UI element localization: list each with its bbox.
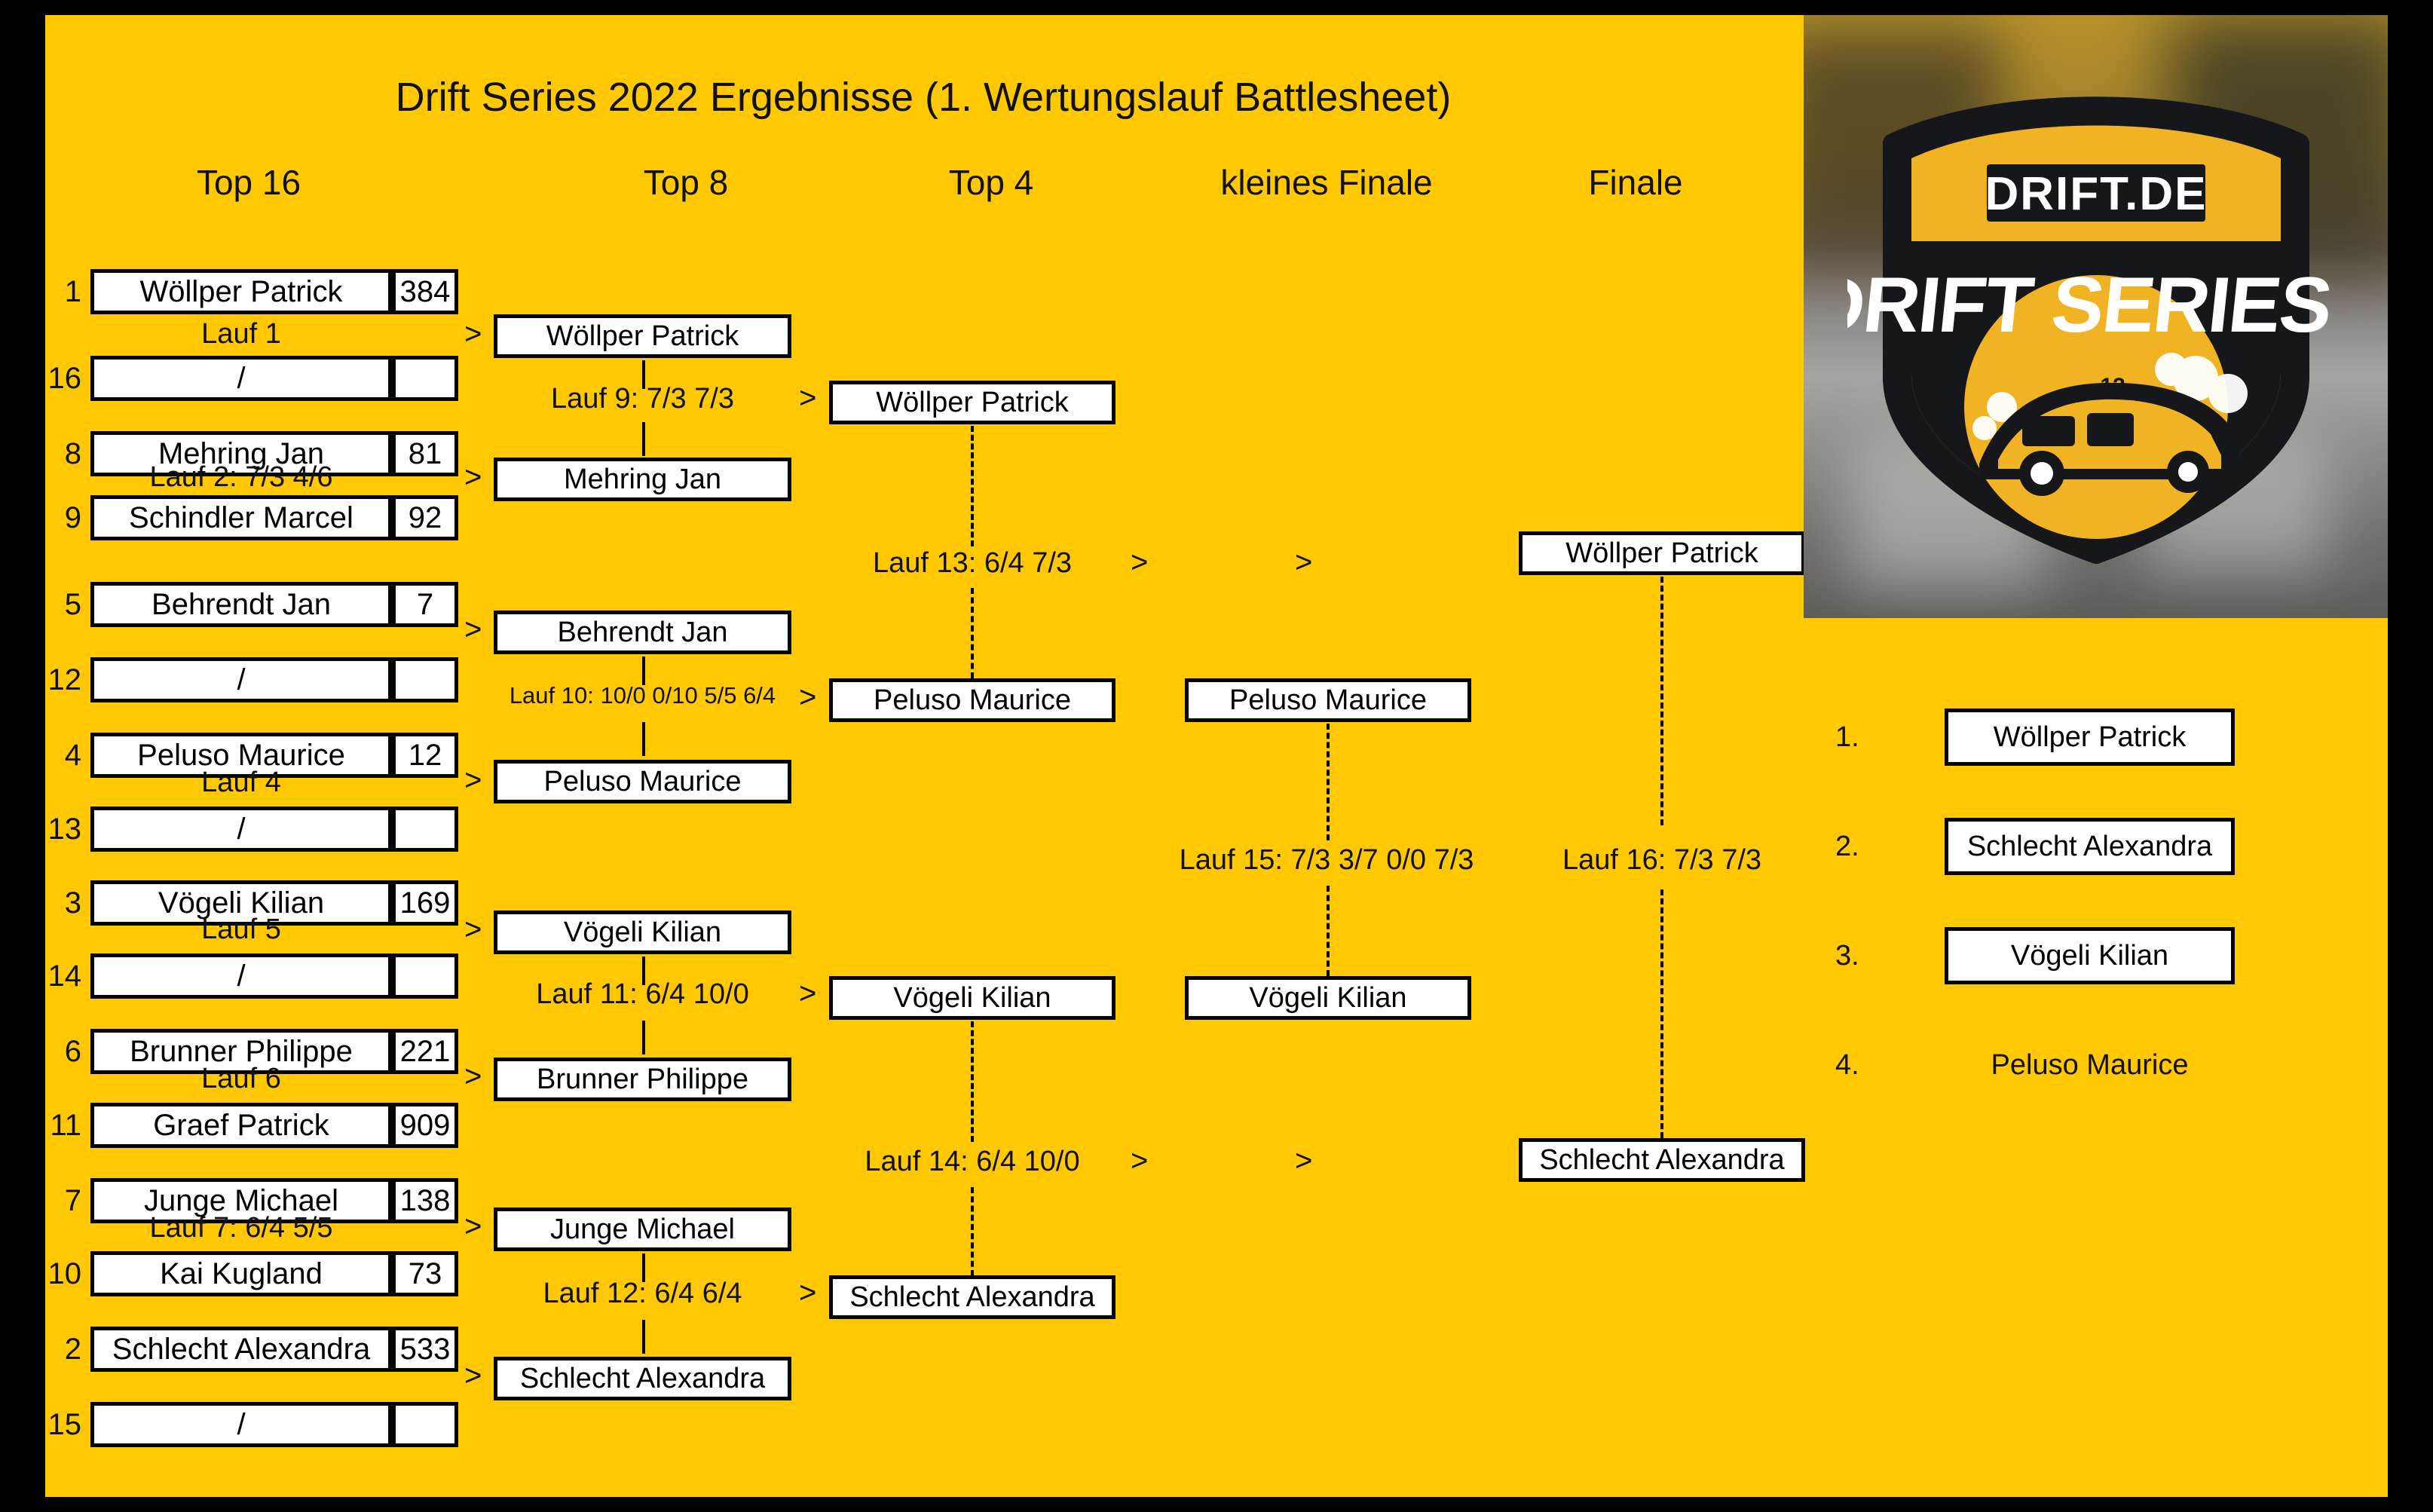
advance-arrow-icon: > xyxy=(464,765,482,795)
top16-car-number[interactable]: 138 xyxy=(392,1178,458,1223)
seed-number: 6 xyxy=(45,1029,81,1074)
bracket-connector xyxy=(1660,889,1663,1138)
match-label: Lauf 15: 7/3 3/7 0/0 7/3 xyxy=(1146,844,1507,877)
column-header-top8: Top 8 xyxy=(513,162,859,203)
ranking-name[interactable]: Vögeli Kilian xyxy=(1945,927,2235,984)
top16-car-number[interactable]: 384 xyxy=(392,269,458,314)
final-entrant[interactable]: Wöllper Patrick xyxy=(1519,531,1805,575)
final-entrant[interactable]: Schlecht Alexandra xyxy=(1519,1138,1805,1182)
seed-number: 3 xyxy=(45,880,81,926)
match-label: Lauf 12: 6/4 6/4 xyxy=(494,1278,791,1310)
top16-name[interactable]: Graef Patrick xyxy=(90,1103,392,1148)
battlesheet: Drift Series 2022 Ergebnisse (1. Wertung… xyxy=(45,15,2388,1497)
small-final-entrant[interactable]: Peluso Maurice xyxy=(1185,678,1471,722)
ranking-place: 3. xyxy=(1835,927,1888,984)
seed-number: 7 xyxy=(45,1178,81,1223)
seed-number: 5 xyxy=(45,582,81,627)
seed-number: 9 xyxy=(45,495,81,540)
bracket-connector xyxy=(1660,577,1663,825)
top16-name[interactable]: Kai Kugland xyxy=(90,1251,392,1296)
match-label: Lauf 11: 6/4 10/0 xyxy=(494,978,791,1011)
advance-arrow-icon: > xyxy=(464,1211,482,1241)
seed-number: 13 xyxy=(45,807,81,852)
match-label: Lauf 13: 6/4 7/3 xyxy=(829,547,1116,580)
bracket-connector xyxy=(642,722,645,756)
drift-series-badge-icon: DRIFT.DE DRIFT SERIES xyxy=(1847,53,2345,580)
top16-name[interactable]: / xyxy=(90,807,392,852)
bracket-connector xyxy=(642,422,645,456)
top16-car-number[interactable]: 533 xyxy=(392,1327,458,1372)
seed-number: 2 xyxy=(45,1327,81,1372)
top16-name[interactable]: / xyxy=(90,356,392,401)
top8-name[interactable]: Brunner Philippe xyxy=(494,1057,791,1101)
ranking-place: 1. xyxy=(1835,709,1888,766)
match-label: Lauf 16: 7/3 7/3 xyxy=(1519,844,1805,877)
top16-car-number[interactable]: 73 xyxy=(392,1251,458,1296)
top16-car-number[interactable]: 92 xyxy=(392,495,458,540)
match-label: Lauf 6 xyxy=(90,1063,392,1095)
bracket-connector xyxy=(642,657,645,685)
top8-name[interactable]: Vögeli Kilian xyxy=(494,911,791,954)
top4-name[interactable]: Vögeli Kilian xyxy=(829,976,1116,1020)
top16-name[interactable]: / xyxy=(90,657,392,702)
advance-arrow-icon: > xyxy=(464,614,482,644)
match-label: Lauf 14: 6/4 10/0 xyxy=(829,1146,1116,1178)
bracket-connector xyxy=(1327,886,1330,976)
top8-name[interactable]: Junge Michael xyxy=(494,1207,791,1251)
top16-car-number[interactable] xyxy=(392,1402,458,1447)
ranking-name: Peluso Maurice xyxy=(1945,1036,2235,1094)
advance-arrow-icon: > xyxy=(1131,1146,1148,1176)
ranking-place: 4. xyxy=(1835,1036,1888,1094)
bracket-connector xyxy=(971,1187,974,1276)
drift-series-logo: DRIFT.DE DRIFT SERIES xyxy=(1804,15,2388,618)
seed-number: 10 xyxy=(45,1251,81,1296)
match-label: Lauf 10: 10/0 0/10 5/5 6/4 xyxy=(479,682,806,709)
advance-arrow-icon: > xyxy=(799,978,816,1009)
seed-number: 14 xyxy=(45,953,81,999)
bracket-connector xyxy=(971,588,974,678)
match-label: Lauf 4 xyxy=(90,767,392,799)
advance-arrow-icon: > xyxy=(1131,547,1148,577)
top16-name[interactable]: Schindler Marcel xyxy=(90,495,392,540)
top16-name[interactable]: Behrendt Jan xyxy=(90,582,392,627)
logo-car-number: 12 xyxy=(2100,374,2125,399)
column-header-kleines-finale: kleines Finale xyxy=(1138,162,1515,203)
match-label: Lauf 1 xyxy=(90,318,392,350)
column-header-top16: Top 16 xyxy=(75,162,422,203)
advance-arrow-icon: > xyxy=(799,682,816,712)
column-header-top4: Top 4 xyxy=(825,162,1157,203)
match-label: Lauf 2: 7/3 4/6 xyxy=(90,461,392,494)
advance-arrow-icon: > xyxy=(464,914,482,944)
seed-number: 11 xyxy=(45,1103,81,1148)
advance-arrow-icon: > xyxy=(799,383,816,413)
top16-name[interactable]: / xyxy=(90,1402,392,1447)
top4-name[interactable]: Schlecht Alexandra xyxy=(829,1275,1116,1319)
ranking-name[interactable]: Wöllper Patrick xyxy=(1945,709,2235,766)
seed-number: 8 xyxy=(45,431,81,476)
top16-car-number[interactable] xyxy=(392,657,458,702)
top16-name[interactable]: / xyxy=(90,953,392,999)
top8-name[interactable]: Wöllper Patrick xyxy=(494,314,791,358)
bracket-connector xyxy=(1327,724,1330,840)
match-label: Lauf 7: 6/4 5/5 xyxy=(90,1212,392,1244)
top8-name[interactable]: Mehring Jan xyxy=(494,458,791,501)
top8-name[interactable]: Behrendt Jan xyxy=(494,611,791,654)
advance-arrow-icon: > xyxy=(464,319,482,349)
top16-car-number[interactable]: 7 xyxy=(392,582,458,627)
advance-arrow-icon: > xyxy=(1295,547,1312,577)
bracket-connector xyxy=(642,1320,645,1354)
logo-top-text: DRIFT.DE xyxy=(1985,168,2207,220)
advance-arrow-icon: > xyxy=(464,462,482,492)
bracket-connector xyxy=(971,426,974,546)
page-title: Drift Series 2022 Ergebnisse (1. Wertung… xyxy=(45,74,1801,121)
seed-number: 16 xyxy=(45,356,81,401)
top8-name[interactable]: Peluso Maurice xyxy=(494,760,791,803)
bracket-connector xyxy=(642,1021,645,1054)
top16-car-number[interactable]: 81 xyxy=(392,431,458,476)
match-label: Lauf 5 xyxy=(90,914,392,946)
top16-car-number[interactable]: 909 xyxy=(392,1103,458,1148)
top16-car-number[interactable]: 169 xyxy=(392,880,458,926)
column-header-finale: Finale xyxy=(1500,162,1771,203)
top16-car-number[interactable]: 12 xyxy=(392,733,458,778)
top16-car-number[interactable] xyxy=(392,953,458,999)
small-final-entrant[interactable]: Vögeli Kilian xyxy=(1185,976,1471,1020)
top16-car-number[interactable]: 221 xyxy=(392,1029,458,1074)
seed-number: 1 xyxy=(45,269,81,314)
seed-number: 4 xyxy=(45,733,81,778)
match-label: Lauf 9: 7/3 7/3 xyxy=(494,383,791,415)
ranking-place: 2. xyxy=(1835,818,1888,875)
advance-arrow-icon: > xyxy=(1295,1146,1312,1176)
advance-arrow-icon: > xyxy=(464,1061,482,1091)
seed-number: 15 xyxy=(45,1402,81,1447)
advance-arrow-icon: > xyxy=(464,1360,482,1391)
top16-car-number[interactable] xyxy=(392,807,458,852)
logo-main-text: DRIFT SERIES xyxy=(1847,262,2335,349)
top16-name[interactable]: Schlecht Alexandra xyxy=(90,1327,392,1372)
top16-car-number[interactable] xyxy=(392,356,458,401)
top16-name[interactable]: Wöllper Patrick xyxy=(90,269,392,314)
top4-name[interactable]: Peluso Maurice xyxy=(829,678,1116,722)
seed-number: 12 xyxy=(45,657,81,702)
bracket-connector xyxy=(971,1021,974,1142)
ranking-name[interactable]: Schlecht Alexandra xyxy=(1945,818,2235,875)
top4-name[interactable]: Wöllper Patrick xyxy=(829,381,1116,424)
top8-name[interactable]: Schlecht Alexandra xyxy=(494,1357,791,1400)
advance-arrow-icon: > xyxy=(799,1278,816,1308)
